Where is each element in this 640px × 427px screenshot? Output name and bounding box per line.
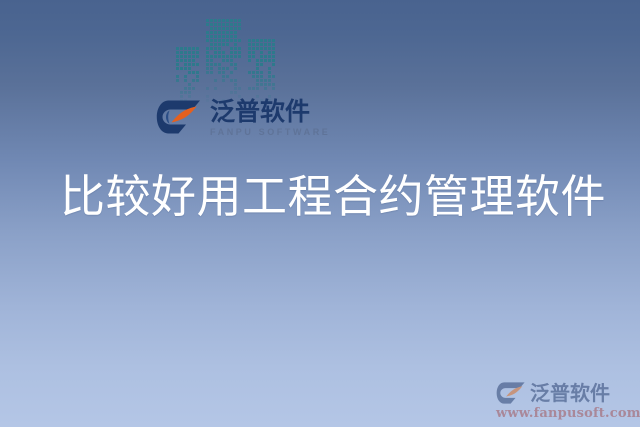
brand-name-cn: 泛普软件: [210, 99, 330, 124]
fanpu-logo-mark-watermark-icon: [496, 382, 526, 404]
fanpu-logo-mark-icon: [156, 100, 202, 134]
skyline-building-right: [248, 39, 278, 106]
brand-logo: 泛普软件 FANPU SOFTWARE: [156, 99, 330, 137]
pixel-city-skyline: [172, 14, 284, 106]
skyline-building-left: [176, 47, 202, 106]
brand-wordmark: 泛普软件 FANPU SOFTWARE: [210, 99, 330, 137]
site-watermark: 泛普软件 www.fanpusoft.com: [496, 382, 632, 421]
promo-banner: 泛普软件 FANPU SOFTWARE 比较好用工程合约管理软件 泛普软件 ww…: [0, 0, 640, 427]
watermark-logo-row: 泛普软件: [496, 382, 632, 404]
watermark-url: www.fanpusoft.com: [496, 406, 632, 421]
page-title: 比较好用工程合约管理软件: [60, 168, 580, 226]
skyline-building-center: [206, 19, 246, 106]
watermark-name-cn: 泛普软件: [530, 383, 610, 403]
brand-name-en: FANPU SOFTWARE: [210, 128, 330, 137]
